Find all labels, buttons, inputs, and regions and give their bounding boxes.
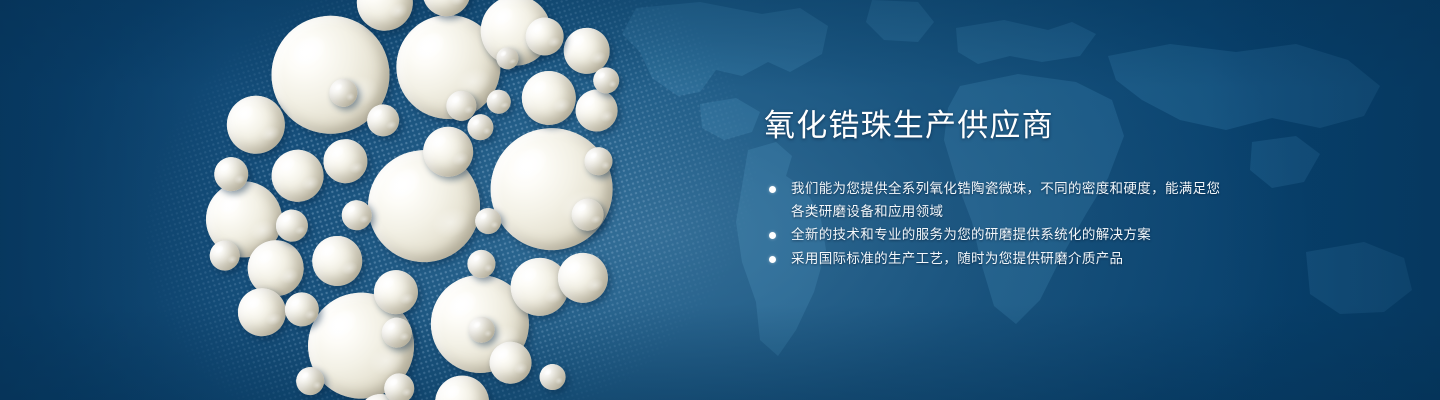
list-item-label: 我们能为您提供全系列氧化锆陶瓷微珠，不同的密度和硬度，能满足您各类研磨设备和应用… <box>791 181 1220 219</box>
page-title: 氧化锆珠生产供应商 <box>764 106 1234 146</box>
product-photo-zirconia-beads <box>62 0 814 400</box>
list-item-label: 采用国际标准的生产工艺，随时为您提供研磨介质产品 <box>791 251 1123 266</box>
bead <box>428 369 495 400</box>
bead <box>475 113 627 265</box>
hero-banner: 氧化锆珠生产供应商 我们能为您提供全系列氧化锆陶瓷微珠，不同的密度和硬度，能满足… <box>0 0 1440 400</box>
bead <box>570 84 622 136</box>
list-item: 采用国际标准的生产工艺，随时为您提供研磨介质产品 <box>764 248 1234 271</box>
bead <box>515 64 582 131</box>
list-item-label: 全新的技术和专业的服务为您的研磨提供系统化的解决方案 <box>791 227 1151 242</box>
bead <box>536 361 568 393</box>
bullet-dot-icon <box>769 232 776 239</box>
banner-copy: 氧化锆珠生产供应商 我们能为您提供全系列氧化锆陶瓷微珠，不同的密度和硬度，能满足… <box>764 106 1234 271</box>
bead-cluster <box>62 0 814 400</box>
bullet-dot-icon <box>769 256 776 263</box>
list-item: 我们能为您提供全系列氧化锆陶瓷微珠，不同的密度和硬度，能满足您各类研磨设备和应用… <box>764 178 1234 223</box>
list-item: 全新的技术和专业的服务为您的研磨提供系统化的解决方案 <box>764 224 1234 247</box>
bead <box>306 230 368 292</box>
feature-list: 我们能为您提供全系列氧化锆陶瓷微珠，不同的密度和硬度，能满足您各类研磨设备和应用… <box>764 178 1234 270</box>
bead <box>318 134 373 189</box>
bullet-dot-icon <box>769 186 776 193</box>
